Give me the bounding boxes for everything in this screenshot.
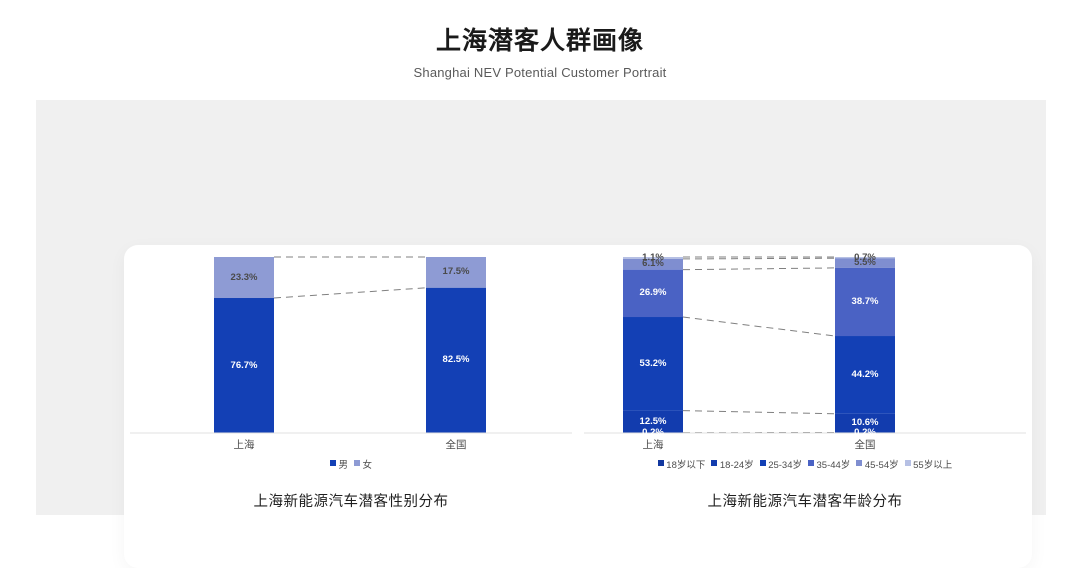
legend-swatch-icon [856, 460, 862, 466]
legend-item[interactable]: 男 [330, 457, 348, 471]
chart-caption-age: 上海新能源汽车潜客年龄分布 [578, 490, 1032, 511]
plot-area-gender: 76.7%82.5%23.3%17.5% [124, 245, 578, 445]
bar-segment[interactable] [426, 288, 486, 433]
legend-swatch-icon [711, 460, 717, 466]
legend-item[interactable]: 55岁以上 [905, 457, 953, 471]
bar-segment[interactable] [835, 257, 895, 258]
legend-label: 女 [363, 460, 373, 471]
stacked-bar-svg-gender [124, 245, 578, 445]
x-axis-label: 全国 [820, 437, 910, 452]
legend-label: 45-54岁 [865, 460, 899, 471]
legend-swatch-icon [354, 460, 360, 466]
legend-gender: 男女 [124, 457, 578, 471]
legend-label: 55岁以上 [913, 460, 952, 471]
legend-label: 18岁以下 [666, 460, 705, 471]
outer-panel: 76.7%82.5%23.3%17.5% 上海全国 男女 上海新能源汽车潜客性别… [36, 100, 1046, 515]
bar-segment[interactable] [835, 414, 895, 433]
bar-segment[interactable] [426, 257, 486, 288]
stacked-bar-svg-age [578, 245, 1032, 445]
x-axis-labels-age: 上海全国 [578, 437, 1032, 455]
legend-item[interactable]: 35-44岁 [808, 457, 850, 471]
legend-item[interactable]: 18-24岁 [711, 457, 753, 471]
x-axis-label: 上海 [199, 437, 289, 452]
bar-segment[interactable] [214, 257, 274, 298]
chart-card: 76.7%82.5%23.3%17.5% 上海全国 男女 上海新能源汽车潜客性别… [124, 245, 1032, 568]
legend-label: 18-24岁 [720, 460, 754, 471]
header: 上海潜客人群画像 Shanghai NEV Potential Customer… [0, 0, 1080, 80]
legend-item[interactable]: 25-34岁 [760, 457, 802, 471]
legend-label: 25-34岁 [768, 460, 802, 471]
chart-age-distribution: 0.2%0.2%12.5%10.6%53.2%44.2%26.9%38.7%6.… [578, 245, 1032, 568]
bar-segment[interactable] [214, 298, 274, 433]
slide-root: 上海潜客人群画像 Shanghai NEV Potential Customer… [0, 0, 1080, 547]
bar-segment[interactable] [835, 258, 895, 268]
legend-swatch-icon [658, 460, 664, 466]
page-title: 上海潜客人群画像 [0, 0, 1080, 57]
bar-segment[interactable] [623, 257, 683, 259]
legend-swatch-icon [905, 460, 911, 466]
chart-caption-gender: 上海新能源汽车潜客性别分布 [124, 490, 578, 511]
legend-label: 男 [338, 460, 348, 471]
bar-segment[interactable] [835, 336, 895, 414]
chart-gender-distribution: 76.7%82.5%23.3%17.5% 上海全国 男女 上海新能源汽车潜客性别… [124, 245, 578, 568]
x-axis-label: 全国 [411, 437, 501, 452]
legend-item[interactable]: 18岁以下 [658, 457, 706, 471]
legend-item[interactable]: 45-54岁 [856, 457, 898, 471]
bar-segment[interactable] [623, 317, 683, 411]
legend-swatch-icon [330, 460, 336, 466]
bar-segment[interactable] [623, 270, 683, 317]
legend-swatch-icon [760, 460, 766, 466]
bar-segment[interactable] [835, 268, 895, 336]
page-subtitle: Shanghai NEV Potential Customer Portrait [0, 57, 1080, 80]
legend-age: 18岁以下18-24岁25-34岁35-44岁45-54岁55岁以上 [578, 457, 1032, 471]
legend-item[interactable]: 女 [354, 457, 372, 471]
bar-segment[interactable] [623, 411, 683, 433]
legend-swatch-icon [808, 460, 814, 466]
x-axis-label: 上海 [608, 437, 698, 452]
x-axis-labels-gender: 上海全国 [124, 437, 578, 455]
bar-segment[interactable] [623, 259, 683, 270]
plot-area-age: 0.2%0.2%12.5%10.6%53.2%44.2%26.9%38.7%6.… [578, 245, 1032, 445]
legend-label: 35-44岁 [817, 460, 851, 471]
